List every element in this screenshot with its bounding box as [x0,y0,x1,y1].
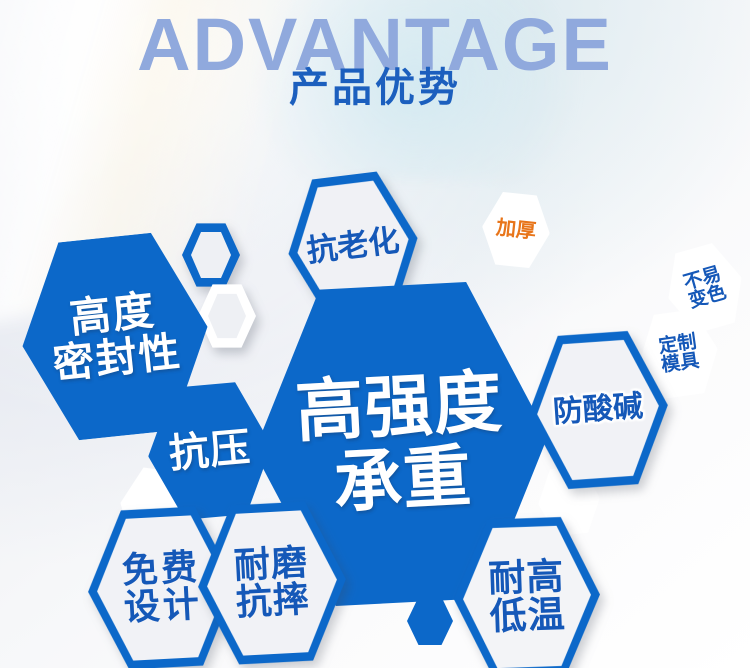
advantage-infographic: ADVANTAGE 产品优势 抗老化 高度 密封性 抗压 加厚 不易 变色 [0,0,750,668]
feature-acid-alkali-hexagon[interactable] [523,325,674,494]
decorative-hexagon-ring-white [198,283,256,349]
decorative-hexagon-ring-blue [182,222,240,288]
feature-wear-drop-resistant-hexagon[interactable] [194,496,350,668]
decorative-hexagon-blue-bottom [407,596,453,646]
feature-temperature-resistant-hexagon[interactable] [451,513,603,668]
feature-thickened-hexagon[interactable] [478,189,554,272]
page-title-chinese: 产品优势 [0,68,750,108]
